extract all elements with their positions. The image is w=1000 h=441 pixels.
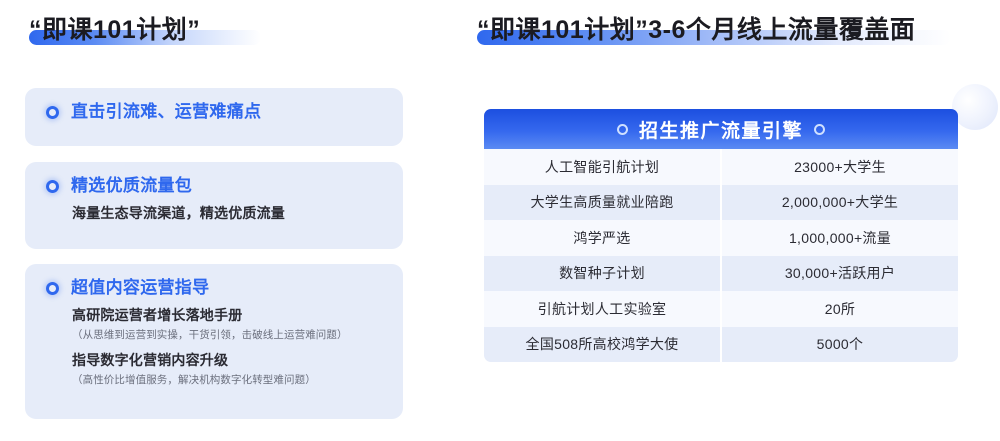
ring-bullet-icon bbox=[46, 106, 59, 119]
table-row: 全国508所高校鸿学大使 5000个 bbox=[484, 327, 958, 363]
table-header-label: 招生推广流量引擎 bbox=[639, 116, 803, 143]
ring-bullet-icon bbox=[46, 282, 59, 295]
left-panel: “即课101计划” 直击引流难、运营难痛点 精选优质流量包 海量生态导流渠道，精… bbox=[0, 0, 440, 441]
ring-bullet-icon bbox=[617, 124, 628, 135]
table-cell-value: 30,000+活跃用户 bbox=[722, 256, 958, 292]
right-section-title-text: “即课101计划”3-6个月线上流量覆盖面 bbox=[477, 16, 915, 44]
feature-card-subtitle: 海量生态导流渠道，精选优质流量 bbox=[25, 203, 403, 224]
table-cell-name: 数智种子计划 bbox=[484, 256, 722, 292]
left-section-title-text: “即课101计划” bbox=[29, 16, 200, 44]
table-cell-name: 全国508所高校鸿学大使 bbox=[484, 327, 722, 363]
left-section-title: “即课101计划” bbox=[29, 13, 200, 47]
table-row: 大学生高质量就业陪跑 2,000,000+大学生 bbox=[484, 185, 958, 221]
feature-card-header: 精选优质流量包 bbox=[25, 162, 403, 197]
feature-card-header: 超值内容运营指导 bbox=[25, 264, 403, 299]
right-panel: “即课101计划”3-6个月线上流量覆盖面 招生推广流量引擎 人工智能引航计划 … bbox=[440, 0, 1000, 441]
table-header: 招生推广流量引擎 bbox=[484, 109, 958, 149]
table-cell-value: 1,000,000+流量 bbox=[722, 220, 958, 256]
table-row: 鸿学严选 1,000,000+流量 bbox=[484, 220, 958, 256]
table-cell-value: 20所 bbox=[722, 291, 958, 327]
feature-card[interactable]: 精选优质流量包 海量生态导流渠道，精选优质流量 bbox=[25, 162, 403, 249]
feature-card-title: 超值内容运营指导 bbox=[71, 277, 209, 299]
ring-bullet-icon bbox=[46, 180, 59, 193]
table-cell-value: 23000+大学生 bbox=[722, 149, 958, 185]
feature-card-title: 直击引流难、运营难痛点 bbox=[71, 101, 261, 123]
table-cell-name: 大学生高质量就业陪跑 bbox=[484, 185, 722, 221]
traffic-engine-table: 招生推广流量引擎 人工智能引航计划 23000+大学生 大学生高质量就业陪跑 2… bbox=[484, 109, 958, 362]
feature-card-header: 直击引流难、运营难痛点 bbox=[25, 88, 403, 123]
table-row: 人工智能引航计划 23000+大学生 bbox=[484, 149, 958, 185]
feature-card-note: （从思维到运营到实操，干货引领，击破线上运营难问题） bbox=[25, 327, 403, 344]
ring-bullet-icon bbox=[814, 124, 825, 135]
decorative-circle bbox=[952, 84, 998, 130]
feature-card-title: 精选优质流量包 bbox=[71, 175, 192, 197]
feature-card[interactable]: 直击引流难、运营难痛点 bbox=[25, 88, 403, 146]
table-row: 数智种子计划 30,000+活跃用户 bbox=[484, 256, 958, 292]
table-cell-value: 5000个 bbox=[722, 327, 958, 363]
table-cell-name: 鸿学严选 bbox=[484, 220, 722, 256]
table-cell-name: 人工智能引航计划 bbox=[484, 149, 722, 185]
table-cell-name: 引航计划人工实验室 bbox=[484, 291, 722, 327]
feature-card-subtitle: 指导数字化营销内容升级 bbox=[25, 350, 403, 371]
feature-card[interactable]: 超值内容运营指导 高研院运营者增长落地手册 （从思维到运营到实操，干货引领，击破… bbox=[25, 264, 403, 419]
table-cell-value: 2,000,000+大学生 bbox=[722, 185, 958, 221]
feature-card-note: （高性价比增值服务，解决机构数字化转型难问题） bbox=[25, 372, 403, 389]
feature-card-subtitle: 高研院运营者增长落地手册 bbox=[25, 305, 403, 326]
table-row: 引航计划人工实验室 20所 bbox=[484, 291, 958, 327]
right-section-title: “即课101计划”3-6个月线上流量覆盖面 bbox=[477, 13, 915, 47]
